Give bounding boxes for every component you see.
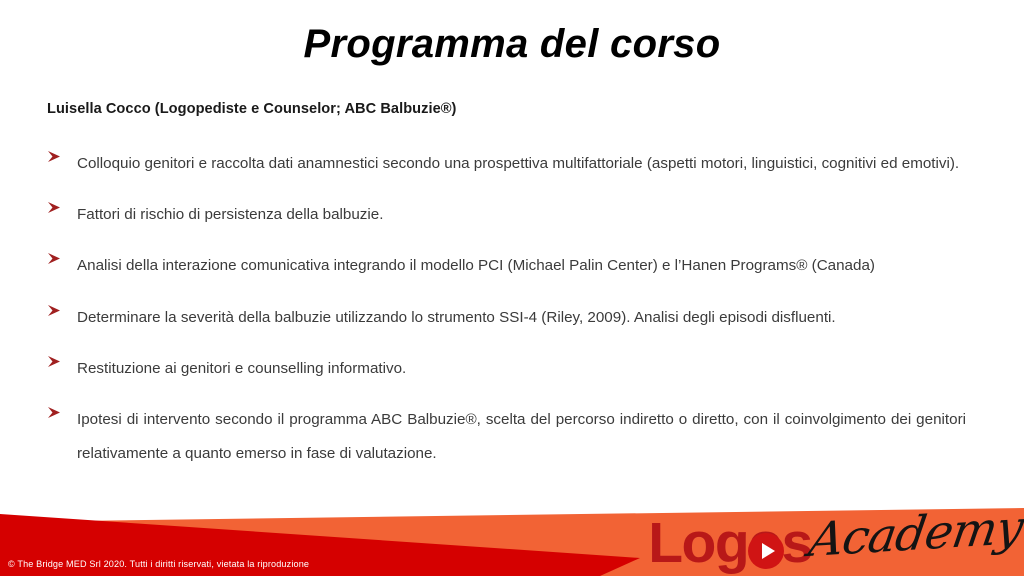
- list-item: Colloquio genitori e raccolta dati anamn…: [47, 147, 966, 181]
- bullet-list: Colloquio genitori e raccolta dati anamn…: [47, 147, 966, 488]
- logo-wordmark: Logos: [648, 516, 811, 570]
- list-item: Fattori di rischio di persistenza della …: [47, 198, 966, 232]
- logo-wordmark-text: Logos: [648, 511, 811, 575]
- list-item-text: Analisi della interazione comunicativa i…: [77, 249, 966, 283]
- list-item-text: Restituzione ai genitori e counselling i…: [77, 352, 966, 386]
- list-item-text: Colloquio genitori e raccolta dati anamn…: [77, 147, 966, 181]
- list-item-text: Determinare la severità della balbuzie u…: [77, 301, 966, 335]
- play-button-icon: [748, 533, 784, 569]
- presenter-line: Luisella Cocco (Logopediste e Counselor;…: [47, 101, 456, 117]
- list-item: Ipotesi di intervento secondo il program…: [47, 403, 966, 471]
- arrowhead-bullet-icon: [47, 403, 77, 419]
- logo-script-text: Academy: [806, 504, 1024, 564]
- copyright-text: © The Bridge MED Srl 2020. Tutti i dirit…: [8, 559, 309, 569]
- arrowhead-bullet-icon: [47, 301, 77, 317]
- list-item: Restituzione ai genitori e counselling i…: [47, 352, 966, 386]
- slide-canvas: Programma del corso Luisella Cocco (Logo…: [0, 0, 1024, 576]
- list-item: Analisi della interazione comunicativa i…: [47, 249, 966, 283]
- arrowhead-bullet-icon: [47, 198, 77, 214]
- page-title: Programma del corso: [0, 22, 1024, 66]
- arrowhead-bullet-icon: [47, 352, 77, 368]
- arrowhead-bullet-icon: [47, 249, 77, 265]
- logos-academy-logo: Logos Academy: [656, 496, 1016, 570]
- list-item: Determinare la severità della balbuzie u…: [47, 301, 966, 335]
- list-item-text: Fattori di rischio di persistenza della …: [77, 198, 966, 232]
- list-item-text: Ipotesi di intervento secondo il program…: [77, 403, 966, 471]
- arrowhead-bullet-icon: [47, 147, 77, 163]
